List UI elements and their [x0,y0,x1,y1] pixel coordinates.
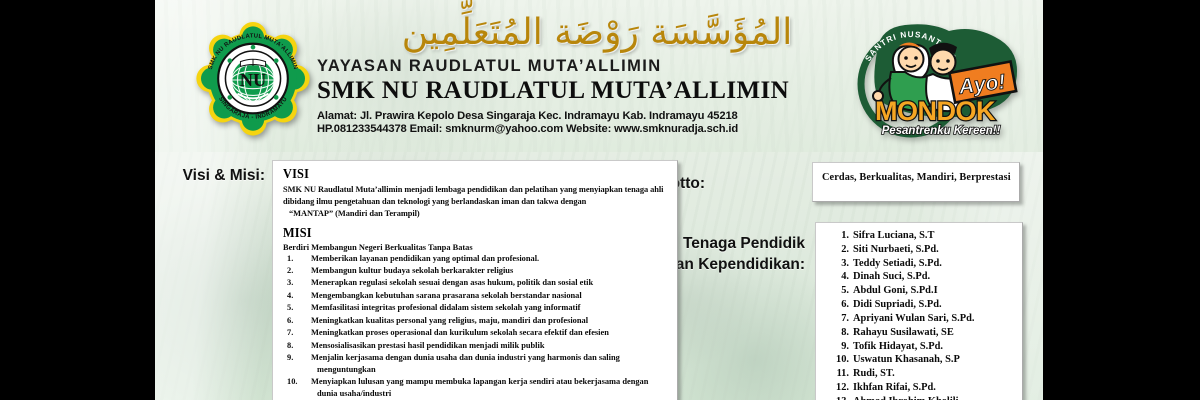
motto-card: Cerdas, Berkualitas, Mandiri, Berprestas… [812,162,1020,202]
nu-school-logo-icon: NU SMK NU RAUDLATUL MUTA'ALLIMIN SINGARA… [195,22,311,138]
misi-intro: Berdiri Membangun Negeri Berkualitas Tan… [283,243,669,252]
staff-list-item: Sifra Luciana, S.T [830,229,1016,243]
staff-list: Sifra Luciana, S.TSiti Nurbaeti, S.Pd.Te… [826,229,1016,400]
staff-list-item: Ahmad Ibrohim Kholili [830,395,1016,400]
slide-header: NU SMK NU RAUDLATUL MUTA'ALLIMIN SINGARA… [155,0,1043,152]
misi-list: Memberikan layanan pendidikan yang optim… [283,253,669,400]
ayo-mondok-logo-icon: SANTRI NUSANTARA [855,12,1035,142]
visi-line-1: SMK NU Raudlatul Muta’allimin menjadi le… [283,185,623,194]
school-name: SMK NU RAUDLATUL MUTA’ALLIMIN [317,77,877,105]
foundation-name: YAYASAN RAUDLATUL MUTA’ALLIMIN [317,57,877,76]
arabic-title: المُؤَسَّسَة رَوْضَة المُتَعَلِّمِين [317,10,877,55]
misi-list-item: Mensosialisasikan prestasi hasil pendidi… [283,340,669,352]
misi-item-text: Menyiapkan lulusan yang mampu membuka la… [311,377,648,386]
misi-list-item: Mengembangkan kebutuhan sarana prasarana… [283,290,669,302]
mondok-wordmark: MONDOK [875,96,996,126]
nu-logo-center-text: NU [240,70,267,90]
visi-misi-card: VISI SMK NU Raudlatul Muta’allimin menja… [272,160,678,400]
misi-list-item: Menjalin kerjasama dengan dunia usaha da… [283,352,669,376]
staff-list-item: Teddy Setiadi, S.Pd. [830,257,1016,271]
misi-item-continuation: menguntungkan [311,364,669,376]
staff-list-item: Apriyani Wulan Sari, S.Pd. [830,312,1016,326]
letterbox-bar-right [1043,0,1200,400]
misi-list-item: Meningkatkan kualitas personal yang reli… [283,315,669,327]
staff-list-item: Ikhfan Rifai, S.Pd. [830,381,1016,395]
misi-item-text: Mensosialisasikan prestasi hasil pendidi… [311,341,545,350]
misi-item-text: Memberikan layanan pendidikan yang optim… [311,254,539,263]
header-text-block: المُؤَسَّسَة رَوْضَة المُتَعَلِّمِين YAY… [317,10,877,135]
letterbox-bar-left [0,0,155,400]
staff-list-item: Didi Supriadi, S.Pd. [830,298,1016,312]
misi-item-text: Memfasilitasi integritas profesional did… [311,303,580,312]
label-visi-misi: Visi & Misi: [155,166,265,187]
misi-heading: MISI [283,226,623,241]
slide-frame: NU SMK NU RAUDLATUL MUTA'ALLIMIN SINGARA… [0,0,1200,400]
staff-list-item: Tofik Hidayat, S.Pd. [830,340,1016,354]
misi-list-item: Memfasilitasi integritas profesional did… [283,302,669,314]
misi-list-item: Memberikan layanan pendidikan yang optim… [283,253,669,265]
staff-list-item: Uswatun Khasanah, S.P [830,353,1016,367]
misi-list-item: Meningkatkan proses operasional dan kuri… [283,327,669,339]
staff-card: Sifra Luciana, S.TSiti Nurbaeti, S.Pd.Te… [815,222,1023,400]
staff-list-item: Siti Nurbaeti, S.Pd. [830,243,1016,257]
visi-body: SMK NU Raudlatul Muta’allimin menjadi le… [283,184,669,219]
misi-list-item: Menyiapkan lulusan yang mampu membuka la… [283,376,669,400]
motto-text: Cerdas, Berkualitas, Mandiri, Berprestas… [822,172,1013,183]
staff-list-item: Abdul Goni, S.Pd.I [830,284,1016,298]
misi-item-text: Membangun kultur budaya sekolah berkarak… [311,266,513,275]
misi-item-text: Menjalin kerjasama dengan dunia usaha da… [311,353,620,362]
staff-list-item: Rahayu Susilawati, SE [830,326,1016,340]
visi-line-3: “MANTAP” (Mandiri dan Terampil) [283,208,669,220]
school-address: Alamat: Jl. Prawira Kepolo Desa Singaraj… [317,110,877,122]
misi-item-text: Menerapkan regulasi sekolah sesuai denga… [311,278,593,287]
mondok-tagline: Pesantrenku Kereen!! [882,125,1001,137]
misi-item-text: Mengembangkan kebutuhan sarana prasarana… [311,291,582,300]
misi-item-continuation: dunia usaha/industri [311,388,669,400]
staff-list-item: Dinah Suci, S.Pd. [830,270,1016,284]
misi-list-item: Menerapkan regulasi sekolah sesuai denga… [283,277,669,289]
school-contact: HP.081233544378 Email: smknurm@yahoo.com… [317,123,877,135]
staff-list-item: Rudi, ST. [830,367,1016,381]
misi-item-text: Meningkatkan proses operasional dan kuri… [311,328,609,337]
misi-item-text: Meningkatkan kualitas personal yang reli… [311,316,588,325]
visi-heading: VISI [283,167,623,182]
misi-list-item: Membangun kultur budaya sekolah berkarak… [283,265,669,277]
presentation-slide: NU SMK NU RAUDLATUL MUTA'ALLIMIN SINGARA… [155,0,1043,400]
